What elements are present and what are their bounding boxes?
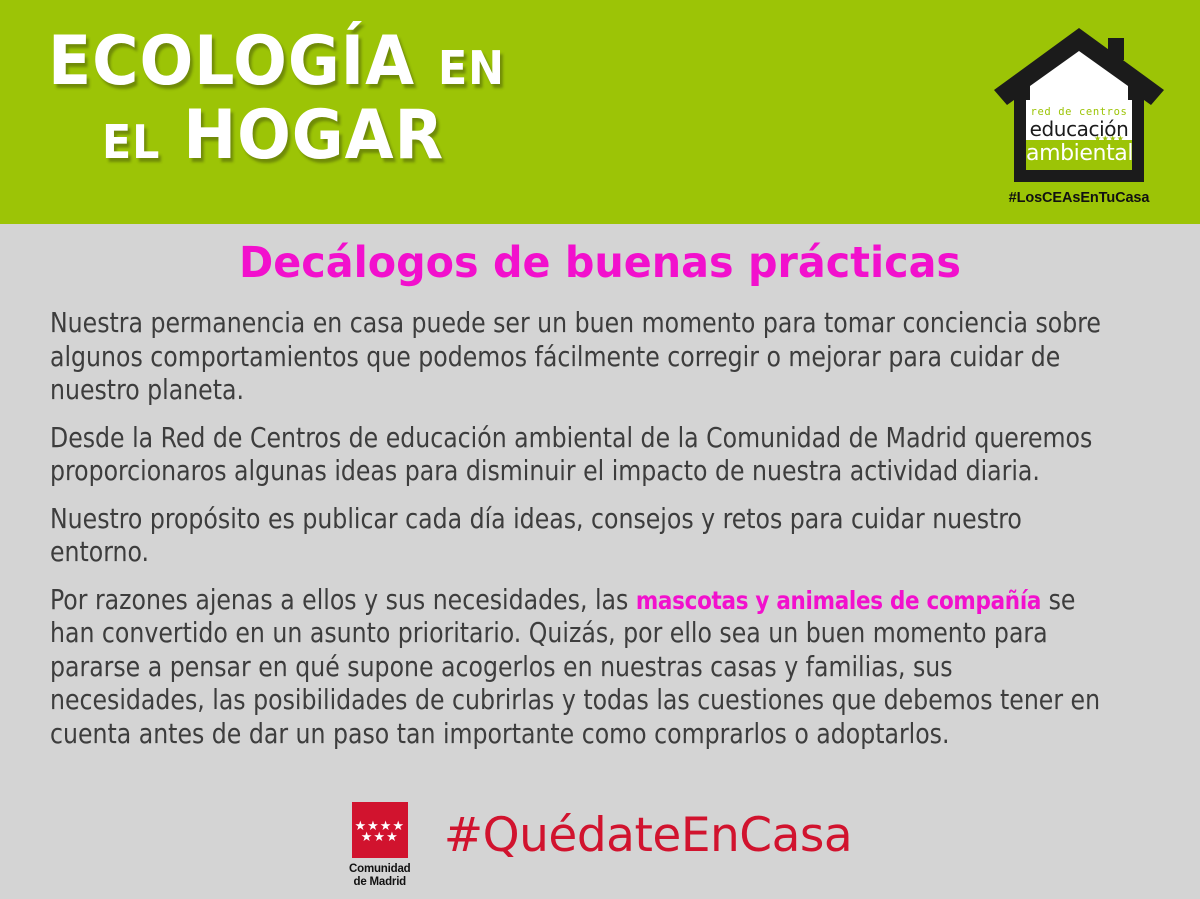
- madrid-caption: Comunidad de Madrid: [348, 863, 412, 889]
- paragraph-p4: Por razones ajenas a ellos y sus necesid…: [50, 584, 1106, 752]
- body-text-block: Nuestra permanencia en casa puede ser un…: [50, 307, 1156, 751]
- paragraph-text: Nuestra permanencia en casa puede ser un…: [50, 307, 1101, 406]
- title-word-en: EN: [438, 41, 505, 95]
- quedate-en-casa-hashtag: #QuédateEnCasa: [444, 812, 852, 859]
- paragraph-text: Desde la Red de Centros de educación amb…: [50, 422, 1092, 488]
- paragraph-text: Nuestro propósito es publicar cada día i…: [50, 503, 1022, 569]
- paragraph-p2: Desde la Red de Centros de educación amb…: [50, 422, 1106, 489]
- madrid-flag-icon: ★★★★ ★★★: [352, 802, 408, 858]
- section-subtitle: Decálogos de buenas prácticas: [24, 238, 1176, 288]
- madrid-caption-line-2: de Madrid: [348, 876, 412, 889]
- title-line-1: ECOLOGÍA EN: [48, 30, 569, 94]
- paragraph-p3: Nuestro propósito es publicar cada día i…: [50, 503, 1106, 570]
- poster-canvas: ECOLOGÍA EN EL HOGAR red de centros educ…: [0, 0, 1200, 899]
- header-band: ECOLOGÍA EN EL HOGAR red de centros educ…: [0, 0, 1200, 224]
- madrid-stars-row-2: ★★★: [352, 830, 408, 843]
- footer: ★★★★ ★★★ Comunidad de Madrid #QuédateEnC…: [0, 798, 1200, 899]
- title-line-2: EL HOGAR: [48, 104, 569, 168]
- logo-hashtag: #LosCEAsEnTuCasa: [988, 190, 1170, 206]
- title-word-ecologia: ECOLOGÍA: [48, 22, 415, 101]
- highlighted-phrase: mascotas y animales de compañía: [636, 586, 1041, 615]
- paragraph-text: Por razones ajenas a ellos y sus necesid…: [50, 584, 636, 616]
- poster-title: ECOLOGÍA EN EL HOGAR: [48, 30, 608, 168]
- paragraph-p1: Nuestra permanencia en casa puede ser un…: [50, 307, 1106, 408]
- comunidad-de-madrid-logo: ★★★★ ★★★ Comunidad de Madrid: [348, 802, 412, 889]
- title-word-el: EL: [102, 115, 160, 169]
- logo-line-ambiental: ambiental: [1026, 141, 1132, 166]
- red-de-centros-logo: red de centros educación ambiental ★★★★ …: [988, 22, 1170, 218]
- madrid-caption-line-1: Comunidad: [348, 863, 412, 876]
- logo-stars-icon: ★★★★: [1094, 134, 1124, 143]
- title-word-hogar: HOGAR: [183, 96, 444, 175]
